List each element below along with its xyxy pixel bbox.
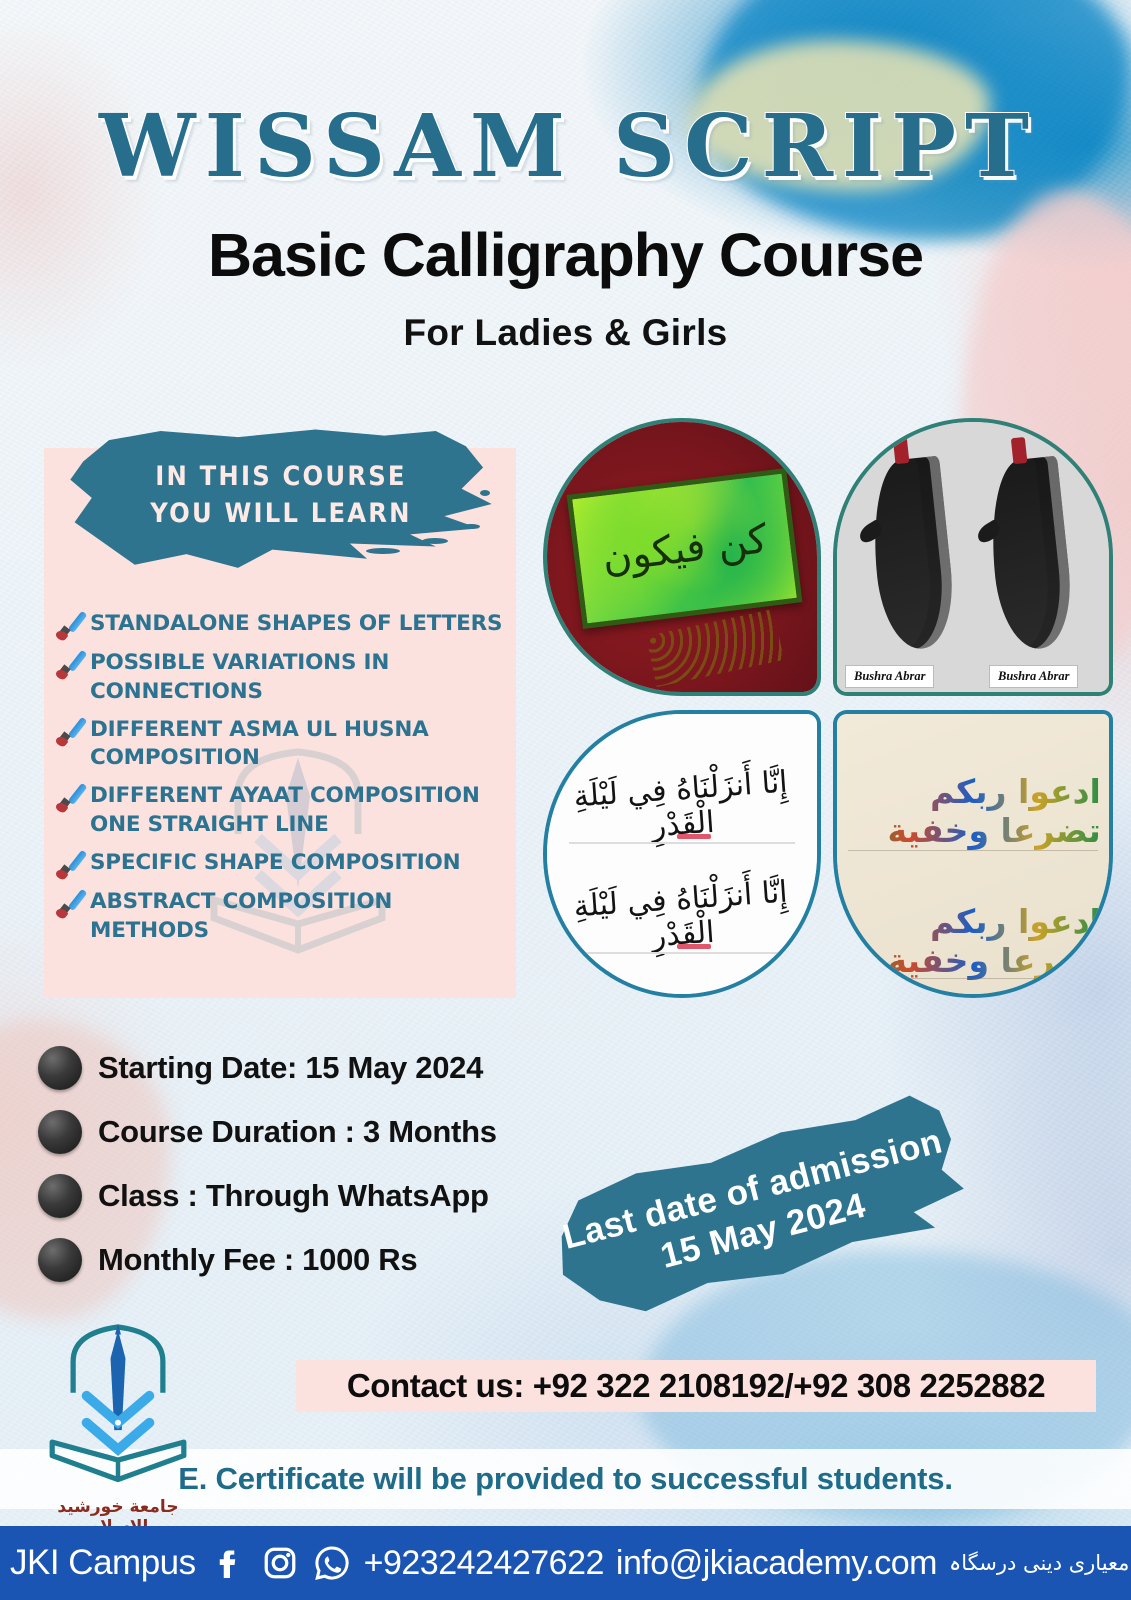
flame-tag bbox=[893, 437, 910, 464]
gallery-caption: Bushra Abrar bbox=[845, 665, 934, 688]
learn-heading-text: In this course you will learn bbox=[66, 428, 496, 580]
paintbrush-icon bbox=[54, 884, 88, 918]
gallery-glyph: كن فيكون bbox=[572, 474, 797, 624]
course-details-list: Starting Date: 15 May 2024 Course Durati… bbox=[38, 1046, 518, 1302]
detail-row: Monthly Fee : 1000 Rs bbox=[38, 1238, 518, 1282]
list-item-label: Different Ayaat composition one straight… bbox=[90, 780, 514, 840]
paper-rule bbox=[848, 978, 1098, 979]
list-item-label: Specific shape composition bbox=[90, 847, 460, 878]
gallery-glyph: ادعوا ربكم تضرعا وخفية bbox=[845, 772, 1101, 850]
list-item: Specific shape composition bbox=[54, 847, 514, 879]
contact-bar: Contact us: +92 322 2108192/+92 308 2252… bbox=[296, 1360, 1096, 1412]
certificate-note: E. Certificate will be provided to succe… bbox=[178, 1461, 953, 1497]
paintbrush-icon bbox=[54, 712, 88, 746]
calligraphy-gallery: كن فيكون Bushra Abrar Bushra Abrar إِنَّ… bbox=[543, 418, 1113, 1008]
gallery-image-colored-ayat: ادعوا ربكم تضرعا وخفية ادعوا ربكم تضرعا … bbox=[833, 710, 1113, 998]
academy-logo: جامعة خورشيد الإسلام bbox=[34, 1318, 202, 1537]
footer-email[interactable]: info@jkiacademy.com bbox=[616, 1544, 937, 1583]
flame-tag bbox=[1011, 437, 1028, 464]
list-item-label: Abstract composition methods bbox=[90, 886, 514, 946]
bullet-dot-icon bbox=[38, 1238, 82, 1282]
whatsapp-icon[interactable] bbox=[312, 1543, 352, 1583]
bullet-dot-icon bbox=[38, 1174, 82, 1218]
page-title: WISSAM SCRIPT bbox=[0, 104, 1131, 190]
paper-rule bbox=[569, 952, 796, 954]
list-item: Different Asma ul Husna composition bbox=[54, 714, 514, 774]
paintbrush-icon bbox=[54, 645, 88, 679]
facebook-icon[interactable] bbox=[208, 1543, 248, 1583]
green-calligraphy-card: كن فيكون bbox=[567, 468, 803, 629]
learn-heading-line-2: you will learn bbox=[150, 498, 411, 529]
paper-rule bbox=[569, 842, 796, 844]
poster-canvas: WISSAM SCRIPT Basic Calligraphy Course F… bbox=[0, 0, 1131, 1600]
bullet-dot-icon bbox=[38, 1110, 82, 1154]
detail-row: Class : Through WhatsApp bbox=[38, 1174, 518, 1218]
gallery-image-alif-flames: Bushra Abrar Bushra Abrar bbox=[833, 418, 1113, 696]
detail-label: Starting Date: 15 May 2024 bbox=[98, 1050, 483, 1086]
course-subtitle: Basic Calligraphy Course bbox=[0, 220, 1131, 290]
footer-bar: JKI Campus +923242427622 info@jkiacademy… bbox=[0, 1526, 1131, 1600]
gallery-image-kun-fayakun: كن فيكون bbox=[543, 418, 821, 696]
detail-label: Class : Through WhatsApp bbox=[98, 1178, 489, 1214]
footer-phone[interactable]: +923242427622 bbox=[364, 1544, 604, 1583]
detail-row: Starting Date: 15 May 2024 bbox=[38, 1046, 518, 1090]
footer-campus-label: JKI Campus bbox=[10, 1543, 196, 1583]
list-item: Abstract composition methods bbox=[54, 886, 514, 946]
gallery-caption: Bushra Abrar bbox=[989, 665, 1078, 688]
pink-mark bbox=[677, 944, 711, 949]
learn-heading-line-1: In this course bbox=[155, 461, 406, 492]
gallery-image-laylat-al-qadr: إِنَّا أَنزَلْنَاهُ فِي لَيْلَةِ الْقَدْ… bbox=[543, 710, 821, 998]
detail-label: Monthly Fee : 1000 Rs bbox=[98, 1242, 417, 1278]
footer-urdu-tagline: خواتین کیلئے معیاری دینی درسگاہ bbox=[949, 1551, 1131, 1575]
list-item: Different Ayaat composition one straight… bbox=[54, 780, 514, 840]
learn-heading-brushstroke: In this course you will learn bbox=[66, 428, 496, 580]
instagram-icon[interactable] bbox=[260, 1543, 300, 1583]
gallery-glyph-repeat: ادعوا ربكم تضرعا وخفية bbox=[845, 902, 1101, 980]
paintbrush-icon bbox=[54, 606, 88, 640]
paintbrush-icon bbox=[54, 845, 88, 879]
pink-mark bbox=[677, 834, 711, 839]
list-item: Standalone shapes of letters bbox=[54, 608, 514, 640]
mosque-book-logo-icon bbox=[43, 1318, 193, 1490]
list-item-label: Standalone shapes of letters bbox=[90, 608, 502, 639]
paper-rule bbox=[848, 850, 1098, 851]
bullet-dot-icon bbox=[38, 1046, 82, 1090]
list-item: Possible variations in connections bbox=[54, 647, 514, 707]
contact-label: Contact us: +92 322 2108192/+92 308 2252… bbox=[347, 1367, 1045, 1405]
detail-row: Course Duration : 3 Months bbox=[38, 1110, 518, 1154]
list-item-label: Possible variations in connections bbox=[90, 647, 514, 707]
learn-topics-list: Standalone shapes of letters Possible va… bbox=[54, 608, 514, 952]
detail-label: Course Duration : 3 Months bbox=[98, 1114, 497, 1150]
list-item-label: Different Asma ul Husna composition bbox=[90, 714, 514, 774]
course-audience: For Ladies & Girls bbox=[0, 312, 1131, 354]
paintbrush-icon bbox=[54, 778, 88, 812]
poster-header: WISSAM SCRIPT Basic Calligraphy Course F… bbox=[0, 0, 1131, 354]
